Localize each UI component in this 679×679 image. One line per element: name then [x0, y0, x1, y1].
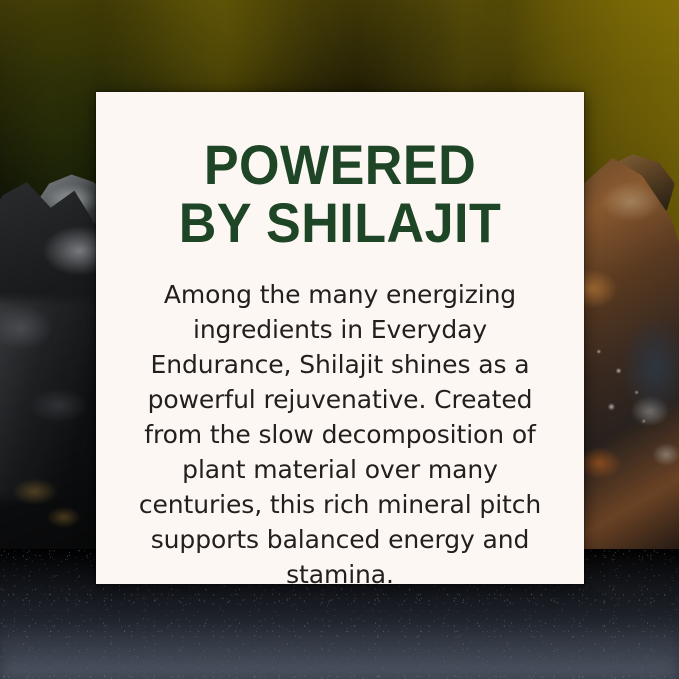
headline-line-2: BY SHILAJIT	[137, 194, 542, 252]
product-image-scene: POWERED BY SHILAJIT Among the many energ…	[0, 0, 679, 679]
page-title: POWERED BY SHILAJIT	[137, 136, 542, 251]
info-card: POWERED BY SHILAJIT Among the many energ…	[96, 92, 584, 584]
headline-line-1: POWERED	[137, 136, 542, 194]
body-paragraph: Among the many energizing ingredients in…	[122, 277, 558, 592]
